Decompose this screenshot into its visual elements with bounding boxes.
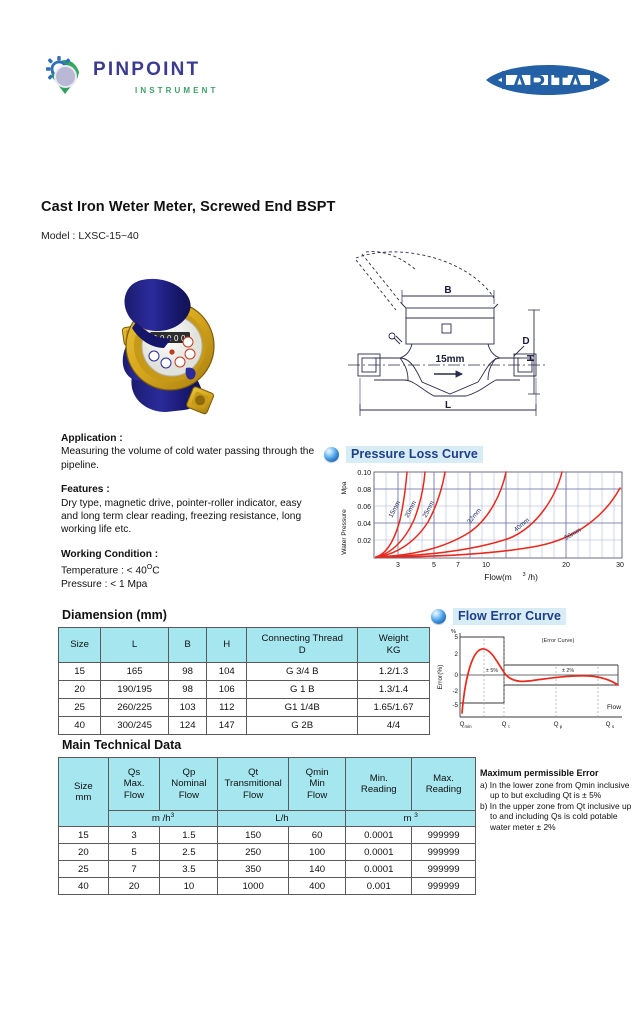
dim-r3-c4: G 2B bbox=[247, 717, 358, 735]
dim-r1-c2: 98 bbox=[168, 681, 206, 699]
mtd-h3-l3: Flow bbox=[243, 790, 263, 801]
svg-text:Q: Q bbox=[606, 721, 611, 728]
band-label-2: ± 2% bbox=[562, 668, 574, 674]
dim-r3-c2: 124 bbox=[168, 717, 206, 735]
mtd-r3-c1: 20 bbox=[108, 878, 160, 895]
table-row: 40 300/245 124 147 G 2B 4/4 bbox=[59, 717, 430, 735]
flow-error-chart: 5 2 0 -2 -5 % Error(%) Qmin Qt Qp Qs Flo… bbox=[432, 627, 632, 732]
mtd-r2-c1: 7 bbox=[108, 861, 160, 878]
svg-text:0.02: 0.02 bbox=[357, 538, 371, 545]
temperature-unit: C bbox=[152, 566, 159, 577]
mtd-r3-c3: 1000 bbox=[218, 878, 288, 895]
drawing-label-bore: 15mm bbox=[436, 354, 465, 365]
svg-text:Q: Q bbox=[502, 721, 507, 728]
mtd-r2-c4: 140 bbox=[288, 861, 346, 878]
mtd-h4-l3: Flow bbox=[307, 790, 327, 801]
mtd-r1-c1: 5 bbox=[108, 844, 160, 861]
features-block: Features : Dry type, magnetic drive, poi… bbox=[61, 483, 319, 537]
mtd-h6-l1: Max. bbox=[433, 773, 454, 784]
error-note-heading: Maximum permissible Error bbox=[480, 768, 636, 779]
dim-h-thread-sub: D bbox=[299, 645, 306, 656]
application-heading: Application : bbox=[61, 433, 123, 444]
mtd-r2-c2: 3.5 bbox=[160, 861, 218, 878]
dim-r2-c0: 25 bbox=[59, 699, 101, 717]
mtd-h4-l2: Min bbox=[309, 778, 324, 789]
lens-disc-icon bbox=[54, 65, 77, 88]
dim-r1-c3: 106 bbox=[207, 681, 247, 699]
bullet-sphere-icon bbox=[324, 447, 339, 462]
svg-text:Error(%): Error(%) bbox=[437, 665, 444, 690]
product-photo: 000 00 bbox=[98, 268, 230, 428]
section-header-pressure-loss: Pressure Loss Curve bbox=[324, 446, 483, 463]
arita-logo: ARITA bbox=[484, 55, 612, 105]
mtd-unit-lh: L/h bbox=[275, 813, 288, 824]
svg-text:0: 0 bbox=[455, 672, 459, 679]
features-text: Dry type, magnetic drive, pointer-roller… bbox=[61, 498, 302, 536]
dim-h-b: B bbox=[184, 639, 190, 650]
svg-text:30: 30 bbox=[616, 562, 624, 569]
dim-h-weight-sub: KG bbox=[387, 645, 401, 656]
mtd-r0-c1: 3 bbox=[108, 827, 160, 844]
dim-r1-c5: 1.3/1.4 bbox=[358, 681, 430, 699]
flow-error-xlabel: Flow bbox=[607, 704, 621, 711]
table-row: 25 7 3.5 350 140 0.0001 999999 bbox=[59, 861, 476, 878]
mtd-h2-l2: Nominal bbox=[171, 778, 206, 789]
svg-text:2: 2 bbox=[455, 651, 459, 658]
dim-r0-c1: 165 bbox=[101, 663, 169, 681]
svg-text:-5: -5 bbox=[452, 702, 458, 709]
table-row: 15 165 98 104 G 3/4 B 1.2/1.3 bbox=[59, 663, 430, 681]
pressure-text: Pressure : < 1 Mpa bbox=[61, 579, 147, 590]
svg-text:20: 20 bbox=[562, 562, 570, 569]
band-label-5: ± 5% bbox=[486, 668, 498, 674]
mtd-unit-vol: m bbox=[404, 814, 415, 825]
application-block: Application : Measuring the volume of co… bbox=[61, 432, 319, 472]
svg-text:Q: Q bbox=[554, 721, 559, 728]
pinpoint-tagline: INSTRUMENT bbox=[135, 86, 218, 95]
dim-r1-c0: 20 bbox=[59, 681, 101, 699]
svg-text:5: 5 bbox=[455, 634, 459, 641]
temperature-text: Temperature : < 40 bbox=[61, 566, 147, 577]
pinpoint-mark-icon bbox=[46, 56, 84, 98]
svg-text:3: 3 bbox=[396, 562, 400, 569]
mtd-h0-l2: mm bbox=[75, 792, 91, 803]
svg-text:s: s bbox=[612, 724, 615, 729]
mtd-r1-c4: 100 bbox=[288, 844, 346, 861]
dim-r2-c4: G1 1/4B bbox=[247, 699, 358, 717]
mtd-h1-l1: Qs bbox=[128, 767, 140, 778]
svg-text:3: 3 bbox=[522, 572, 525, 578]
mtd-h2-l3: Flow bbox=[179, 790, 199, 801]
svg-text:7: 7 bbox=[456, 562, 460, 569]
table-row: 40 20 10 1000 400 0.001 999999 bbox=[59, 878, 476, 895]
dim-r1-c1: 190/195 bbox=[101, 681, 169, 699]
dim-r2-c1: 260/225 bbox=[101, 699, 169, 717]
table-row: 15 3 1.5 150 60 0.0001 999999 bbox=[59, 827, 476, 844]
technical-table-header: Size mm Qs Max. Flow Qp Nominal Flow Qt … bbox=[59, 758, 476, 811]
section-title-pressure-loss: Pressure Loss Curve bbox=[346, 446, 483, 463]
drawing-label-l: L bbox=[445, 400, 451, 411]
dimension-table: Size L B H Connecting Thread D Weight KG… bbox=[58, 627, 430, 735]
table-row: 20 190/195 98 106 G 1 B 1.3/1.4 bbox=[59, 681, 430, 699]
dim-r0-c3: 104 bbox=[207, 663, 247, 681]
working-heading: Working Condition : bbox=[61, 549, 158, 560]
svg-text:0: 0 bbox=[174, 334, 179, 343]
dim-r0-c5: 1.2/1.3 bbox=[358, 663, 430, 681]
error-note-item-b: b) In the upper zone from Qt inclusive u… bbox=[480, 801, 636, 833]
error-curve-annotation: (Error Curve) bbox=[542, 638, 575, 644]
pinpoint-logo: PINPOINT INSTRUMENT bbox=[46, 56, 218, 98]
mtd-unit-flow-sup: 3 bbox=[171, 812, 175, 819]
mtd-h6-l2: Reading bbox=[426, 784, 462, 795]
table-row: 25 260/225 103 112 G1 1/4B 1.65/1.67 bbox=[59, 699, 430, 717]
dim-h-weight: Weight bbox=[379, 633, 409, 644]
mtd-unit-flow: m /h bbox=[152, 814, 171, 825]
mtd-r3-c6: 999999 bbox=[412, 878, 476, 895]
dimension-table-title: Diamension (mm) bbox=[62, 608, 167, 622]
svg-text:Mpa: Mpa bbox=[341, 481, 348, 494]
mtd-r0-c5: 0.0001 bbox=[346, 827, 412, 844]
mtd-r0-c6: 999999 bbox=[412, 827, 476, 844]
mtd-h1-l3: Flow bbox=[124, 790, 144, 801]
mtd-r3-c4: 400 bbox=[288, 878, 346, 895]
section-header-flow-error: Flow Error Curve bbox=[431, 608, 566, 625]
drawing-label-d: D bbox=[522, 336, 529, 347]
mtd-r1-c3: 250 bbox=[218, 844, 288, 861]
mtd-h0-l1: Size bbox=[74, 781, 93, 792]
svg-text:/h): /h) bbox=[528, 572, 538, 582]
svg-text:0.04: 0.04 bbox=[357, 521, 371, 528]
mtd-r0-c0: 15 bbox=[59, 827, 109, 844]
product-info: Application : Measuring the volume of co… bbox=[61, 432, 319, 591]
svg-text:0.10: 0.10 bbox=[357, 470, 371, 477]
svg-text:0.08: 0.08 bbox=[357, 487, 371, 494]
dim-h-thread: Connecting Thread bbox=[262, 633, 343, 644]
drawing-label-b: B bbox=[444, 285, 451, 296]
dim-r3-c0: 40 bbox=[59, 717, 101, 735]
mtd-r0-c2: 1.5 bbox=[160, 827, 218, 844]
model-label: Model : LXSC-15~40 bbox=[41, 230, 139, 242]
mtd-r3-c2: 10 bbox=[160, 878, 218, 895]
dim-r0-c2: 98 bbox=[168, 663, 206, 681]
mtd-r2-c0: 25 bbox=[59, 861, 109, 878]
mtd-r3-c0: 40 bbox=[59, 878, 109, 895]
dim-h-h: H bbox=[223, 639, 230, 650]
svg-text:0.06: 0.06 bbox=[357, 504, 371, 511]
svg-text:5: 5 bbox=[432, 562, 436, 569]
mtd-h3-l1: Qt bbox=[248, 767, 258, 778]
dim-r0-c4: G 3/4 B bbox=[247, 663, 358, 681]
mtd-h4-l1: Qmin bbox=[306, 767, 329, 778]
mtd-r3-c5: 0.001 bbox=[346, 878, 412, 895]
svg-text:ARITA: ARITA bbox=[511, 70, 585, 96]
section-title-flow-error: Flow Error Curve bbox=[453, 608, 566, 625]
dim-h-l: L bbox=[132, 639, 137, 650]
svg-text:%: % bbox=[451, 629, 456, 635]
permissible-error-note: Maximum permissible Error a) In the lowe… bbox=[480, 768, 636, 833]
pinpoint-wordmark: PINPOINT bbox=[93, 60, 218, 79]
mtd-h5-l1: Min. bbox=[370, 773, 388, 784]
mtd-r0-c3: 150 bbox=[218, 827, 288, 844]
dim-r1-c4: G 1 B bbox=[247, 681, 358, 699]
svg-text:p: p bbox=[560, 724, 563, 729]
pressure-loss-chart: 0.10 0.08 0.06 0.04 0.02 Mpa Water Press… bbox=[330, 466, 630, 584]
dim-r2-c5: 1.65/1.67 bbox=[358, 699, 430, 717]
dim-h-size: Size bbox=[70, 639, 89, 650]
technical-table-title: Main Technical Data bbox=[62, 738, 181, 752]
mtd-r1-c2: 2.5 bbox=[160, 844, 218, 861]
page-title: Cast Iron Weter Meter, Screwed End BSPT bbox=[41, 199, 336, 215]
dim-r2-c2: 103 bbox=[168, 699, 206, 717]
working-condition-block: Working Condition : Temperature : < 40OC… bbox=[61, 548, 319, 592]
mtd-h1-l2: Max. bbox=[124, 778, 145, 789]
technical-drawing: B D L H 15mm bbox=[338, 248, 634, 430]
svg-text:t: t bbox=[508, 724, 510, 729]
application-text: Measuring the volume of cold water passi… bbox=[61, 446, 314, 470]
mtd-h3-l2: Transmitional bbox=[225, 778, 282, 789]
mtd-r2-c6: 999999 bbox=[412, 861, 476, 878]
datasheet-page: PINPOINT INSTRUMENT ARITA Cast Iron Wete… bbox=[0, 0, 642, 1024]
dim-r3-c5: 4/4 bbox=[358, 717, 430, 735]
mtd-r1-c6: 999999 bbox=[412, 844, 476, 861]
dim-r3-c1: 300/245 bbox=[101, 717, 169, 735]
mtd-r2-c3: 350 bbox=[218, 861, 288, 878]
dim-r3-c3: 147 bbox=[207, 717, 247, 735]
mtd-r0-c4: 60 bbox=[288, 827, 346, 844]
mtd-r1-c5: 0.0001 bbox=[346, 844, 412, 861]
bullet-sphere-icon bbox=[431, 609, 446, 624]
dim-r2-c3: 112 bbox=[207, 699, 247, 717]
mtd-r2-c5: 0.0001 bbox=[346, 861, 412, 878]
mtd-unit-vol-sup: 3 bbox=[414, 812, 418, 819]
drawing-label-h: H bbox=[526, 354, 537, 361]
technical-table: Size mm Qs Max. Flow Qp Nominal Flow Qt … bbox=[58, 757, 476, 895]
svg-text:min: min bbox=[464, 724, 472, 729]
error-note-item-a: a) In the lower zone from Qmin inclusive… bbox=[480, 780, 636, 801]
pressure-chart-xlabel: Flow(m bbox=[484, 572, 511, 582]
dimension-table-header: Size L B H Connecting Thread D Weight KG bbox=[59, 628, 430, 663]
svg-text:-2: -2 bbox=[452, 688, 458, 695]
svg-text:Water Pressure: Water Pressure bbox=[341, 509, 348, 555]
features-heading: Features : bbox=[61, 484, 110, 495]
technical-table-units-row: m /h3 L/h m 3 bbox=[59, 811, 476, 827]
svg-text:10: 10 bbox=[482, 562, 490, 569]
mtd-h2-l1: Qp bbox=[182, 767, 195, 778]
mtd-r1-c0: 20 bbox=[59, 844, 109, 861]
table-row: 20 5 2.5 250 100 0.0001 999999 bbox=[59, 844, 476, 861]
mtd-h5-l2: Reading bbox=[361, 784, 397, 795]
dim-r0-c0: 15 bbox=[59, 663, 101, 681]
